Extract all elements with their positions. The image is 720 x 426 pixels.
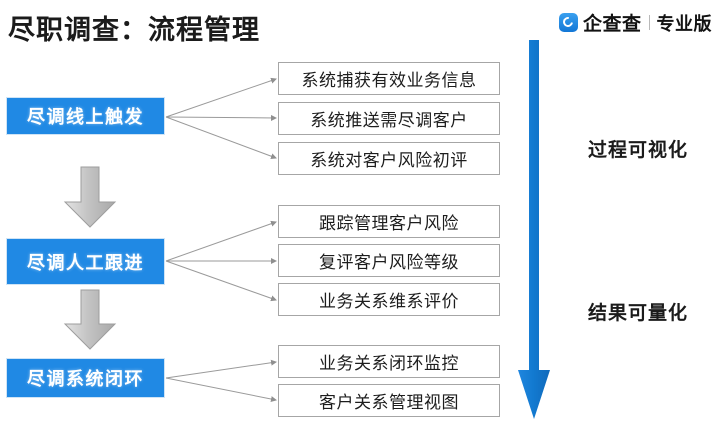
long-down-arrow-icon	[516, 40, 552, 420]
brand-logo: 企查查 专业版	[559, 9, 712, 36]
detail-box[interactable]: 跟踪管理客户风险	[278, 205, 500, 238]
side-label-process-visible: 过程可视化	[588, 135, 688, 162]
qichacha-logo-icon	[559, 13, 578, 32]
detail-box[interactable]: 系统对客户风险初评	[278, 142, 500, 175]
down-arrow-icon	[60, 289, 120, 351]
diagram-canvas: 尽职调查：流程管理 企查查 专业版	[0, 0, 720, 426]
detail-box[interactable]: 业务关系闭环监控	[278, 345, 500, 378]
side-label-result-measurable: 结果可量化	[588, 298, 688, 325]
stage-box-1[interactable]: 尽调人工跟进	[6, 238, 165, 285]
brand-edition: 专业版	[657, 10, 713, 36]
detail-box[interactable]: 业务关系维系评价	[278, 283, 500, 316]
brand-name: 企查查	[583, 9, 642, 36]
detail-box[interactable]: 客户关系管理视图	[278, 384, 500, 417]
detail-box[interactable]: 系统捕获有效业务信息	[278, 62, 500, 95]
detail-box[interactable]: 系统推送需尽调客户	[278, 102, 500, 135]
down-arrow-icon	[60, 166, 120, 229]
stage-box-2[interactable]: 尽调系统闭环	[6, 358, 165, 398]
stage-box-0[interactable]: 尽调线上触发	[6, 97, 165, 135]
page-title: 尽职调查：流程管理	[8, 8, 260, 47]
brand-divider	[649, 15, 650, 30]
detail-box[interactable]: 复评客户风险等级	[278, 244, 500, 277]
